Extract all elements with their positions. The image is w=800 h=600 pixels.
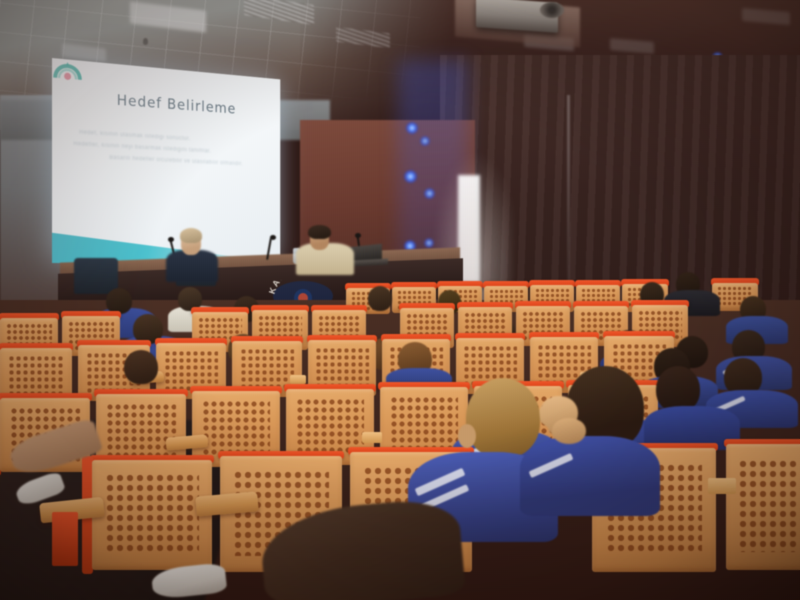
presenter-hair-right [308,225,331,239]
seat-perforations [240,348,295,389]
microphone-head-icon [270,235,276,240]
audience-head [124,350,158,384]
blue-wall-light [404,170,417,183]
armrest-clip [362,432,382,443]
hand-front [552,418,586,444]
audience-shoulders-front [520,436,660,516]
presenter-chair [74,258,118,294]
seat-perforations [202,400,271,456]
seat-perforations [296,398,365,454]
seat-perforations [105,473,199,554]
projector-lens-icon [540,2,564,18]
armrest-clip [290,375,306,384]
presenter-hand-right [330,258,344,267]
armrest-clip [708,478,736,494]
auditorium-photo: Hedef Belirleme Hedef, kisinin ulasmak i… [0,0,800,600]
sprinkler-head [143,38,148,45]
blue-wall-light [406,122,418,134]
theatre-seat[interactable] [92,460,212,570]
audience-head-front [466,378,540,458]
seat-panel [726,444,800,570]
presenter-hair-left [180,228,202,243]
projection-screen: Hedef Belirleme Hedef, kisinin ulasmak i… [52,58,280,263]
theatre-seat[interactable] [726,444,800,570]
screen-glare [52,58,280,263]
blue-wall-light [420,136,430,146]
seat-perforations [164,350,219,391]
microphone-head-icon [355,233,361,238]
seat-panel [92,460,212,570]
armrest-post [52,512,78,566]
microphone-head-icon [168,237,174,242]
seat-perforations [738,459,800,552]
curtain-seam [567,95,570,310]
seat-perforations [8,355,64,396]
seat-perforations [390,396,459,452]
audience-head [368,286,392,311]
blue-wall-light [424,188,435,199]
seat-perforations [315,347,368,388]
seat-perforations [106,403,176,459]
ear [458,424,476,448]
blue-wall-light [424,238,434,248]
